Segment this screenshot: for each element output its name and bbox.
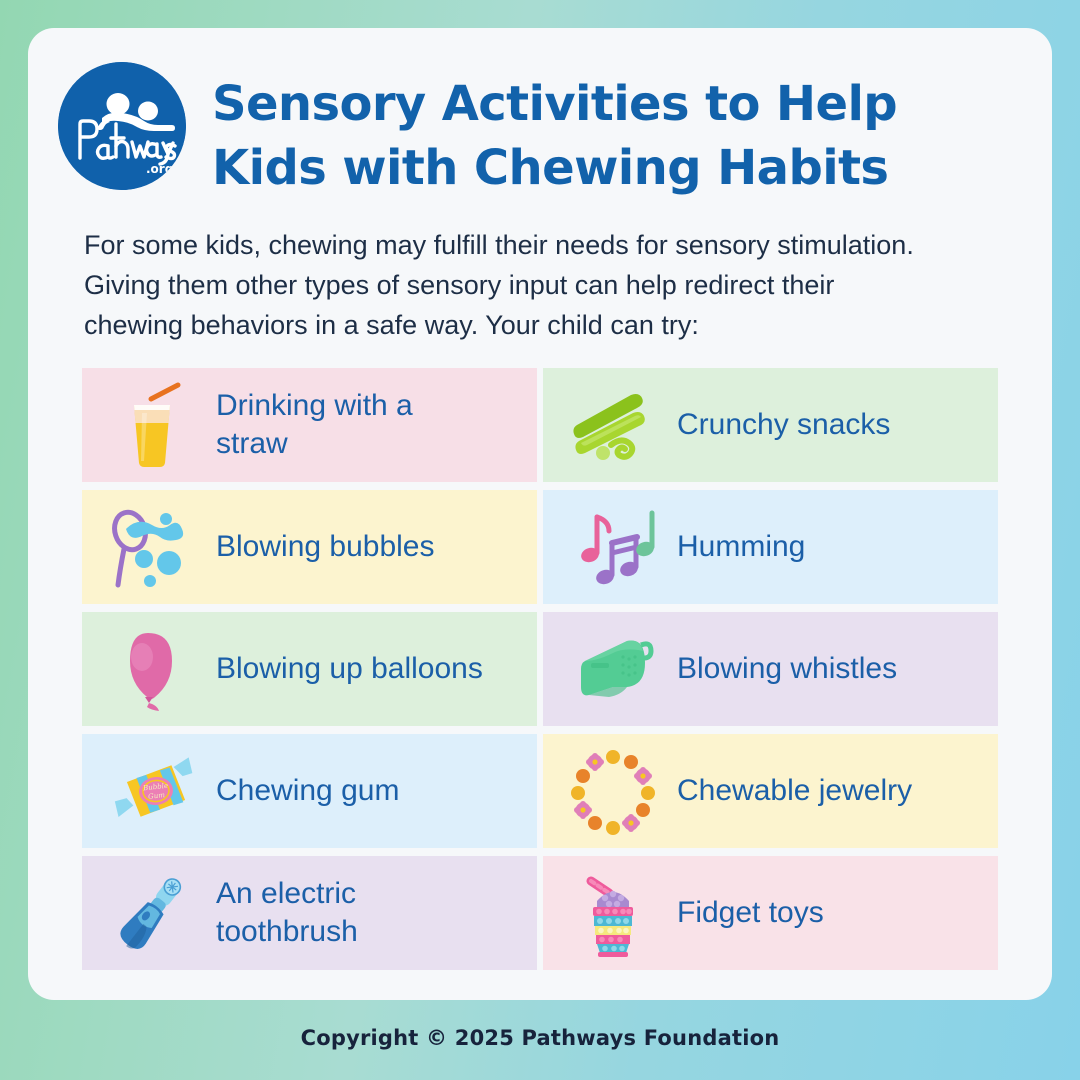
whistle-icon	[557, 619, 669, 719]
activity-card-blowing-whistles[interactable]: Blowing whistles	[543, 612, 998, 726]
juice-glass-with-straw-icon	[96, 375, 208, 475]
activity-card-crunchy-snacks[interactable]: Crunchy snacks	[543, 368, 998, 482]
activity-label: Chewable jewelry	[669, 772, 912, 810]
copyright-footer: Copyright © 2025 Pathways Foundation	[0, 1026, 1080, 1050]
activity-label: Fidget toys	[669, 894, 824, 932]
activity-card-blowing-bubbles[interactable]: Blowing bubbles	[82, 490, 537, 604]
activity-label: Chewing gum	[208, 772, 399, 810]
bubble-gum-candy-icon: Bubble Gum	[96, 741, 208, 841]
svg-text:®: ®	[173, 161, 180, 169]
activity-card-chewing-gum[interactable]: Bubble Gum Chewing gum	[82, 734, 537, 848]
music-notes-icon	[557, 497, 669, 597]
activity-card-blowing-up-balloons[interactable]: Blowing up balloons	[82, 612, 537, 726]
activity-label: Humming	[669, 528, 805, 566]
activity-label: Crunchy snacks	[669, 406, 890, 444]
balloon-icon	[96, 619, 208, 719]
activity-label: Blowing whistles	[669, 650, 897, 688]
svg-text:.org: .org	[146, 162, 173, 176]
intro-paragraph: For some kids, chewing may fulfill their…	[84, 226, 1014, 346]
activity-label: Blowing up balloons	[208, 650, 483, 688]
header: .org ® Sensory Activities to Help Kids w…	[58, 62, 1018, 201]
activity-card-fidget-toys[interactable]: Fidget toys	[543, 856, 998, 970]
beaded-bracelet-icon	[557, 741, 669, 841]
activity-label: Drinking with a straw	[208, 387, 413, 464]
bubble-wand-icon	[96, 497, 208, 597]
activity-card-chewable-jewelry[interactable]: Chewable jewelry	[543, 734, 998, 848]
activities-grid: Drinking with a straw Crunchy snacks	[82, 368, 998, 970]
activity-card-humming[interactable]: Humming	[543, 490, 998, 604]
infographic-root: .org ® Sensory Activities to Help Kids w…	[0, 0, 1080, 1080]
title-block: Sensory Activities to Help Kids with Che…	[212, 62, 897, 201]
pathways-org-logo: .org ®	[58, 62, 186, 190]
activity-card-an-electric-toothbrush[interactable]: An electric toothbrush	[82, 856, 537, 970]
activity-label: Blowing bubbles	[208, 528, 434, 566]
celery-sticks-icon	[557, 375, 669, 475]
activity-card-drinking-with-a-straw[interactable]: Drinking with a straw	[82, 368, 537, 482]
pop-it-fidget-cup-icon	[557, 863, 669, 963]
electric-toothbrush-icon	[96, 863, 208, 963]
page-title: Sensory Activities to Help Kids with Che…	[212, 72, 897, 201]
activity-label: An electric toothbrush	[208, 875, 358, 952]
